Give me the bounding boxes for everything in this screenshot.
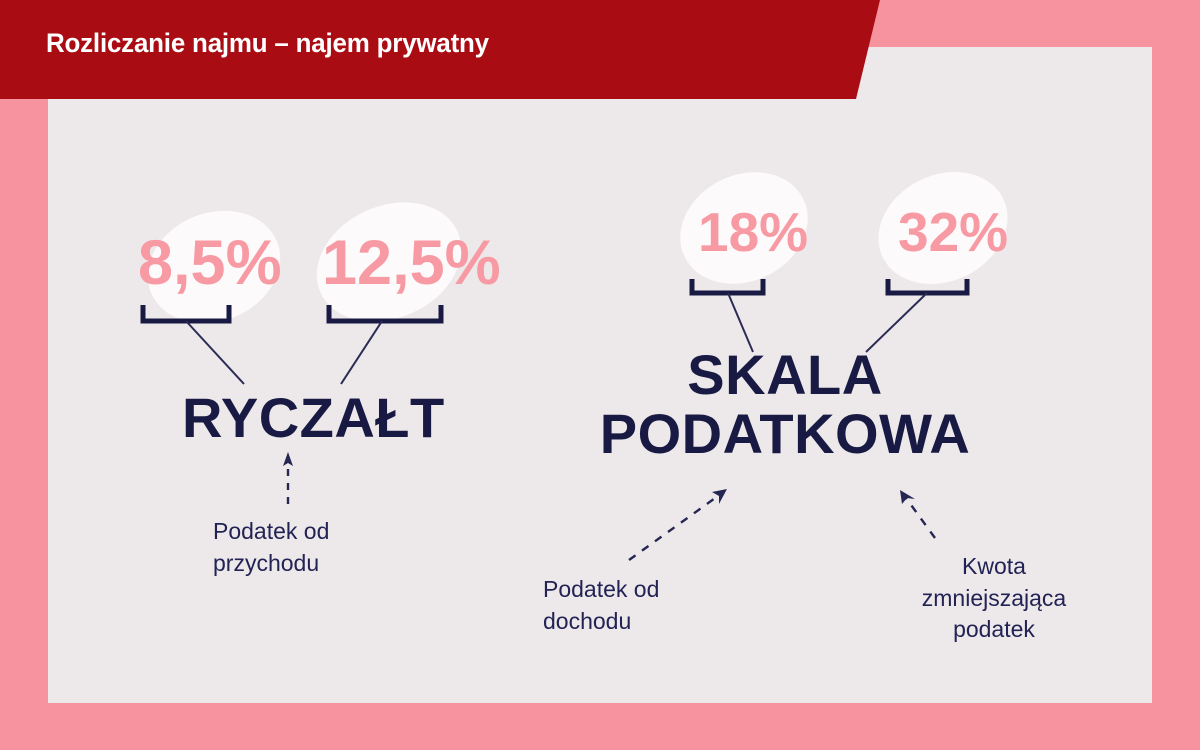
page-title: Rozliczanie najmu – najem prywatny [46, 28, 489, 59]
rate-badge-32: 32% [898, 205, 1038, 267]
rate-value: 8,5% [138, 232, 298, 295]
rate-badge-12-5: 12,5% [322, 232, 512, 302]
rate-badge-8-5: 8,5% [138, 232, 298, 302]
rate-value: 12,5% [322, 232, 512, 295]
caption-kwota-zmniejszajaca-podatek: Kwota zmniejszająca podatek [876, 551, 1112, 646]
caption-podatek-od-przychodu: Podatek od przychodu [213, 516, 443, 579]
rate-value: 18% [698, 205, 838, 260]
rate-badge-18: 18% [698, 205, 838, 267]
header-banner: Rozliczanie najmu – najem prywatny [0, 0, 880, 99]
slide-canvas: Rozliczanie najmu – najem prywatny 8,5% … [0, 0, 1200, 750]
caption-podatek-od-dochodu: Podatek od dochodu [543, 574, 763, 637]
rate-value: 32% [898, 205, 1038, 260]
heading-skala-podatkowa: SKALA PODATKOWA [575, 345, 995, 464]
heading-ryczalt: RYCZAŁT [182, 388, 445, 447]
